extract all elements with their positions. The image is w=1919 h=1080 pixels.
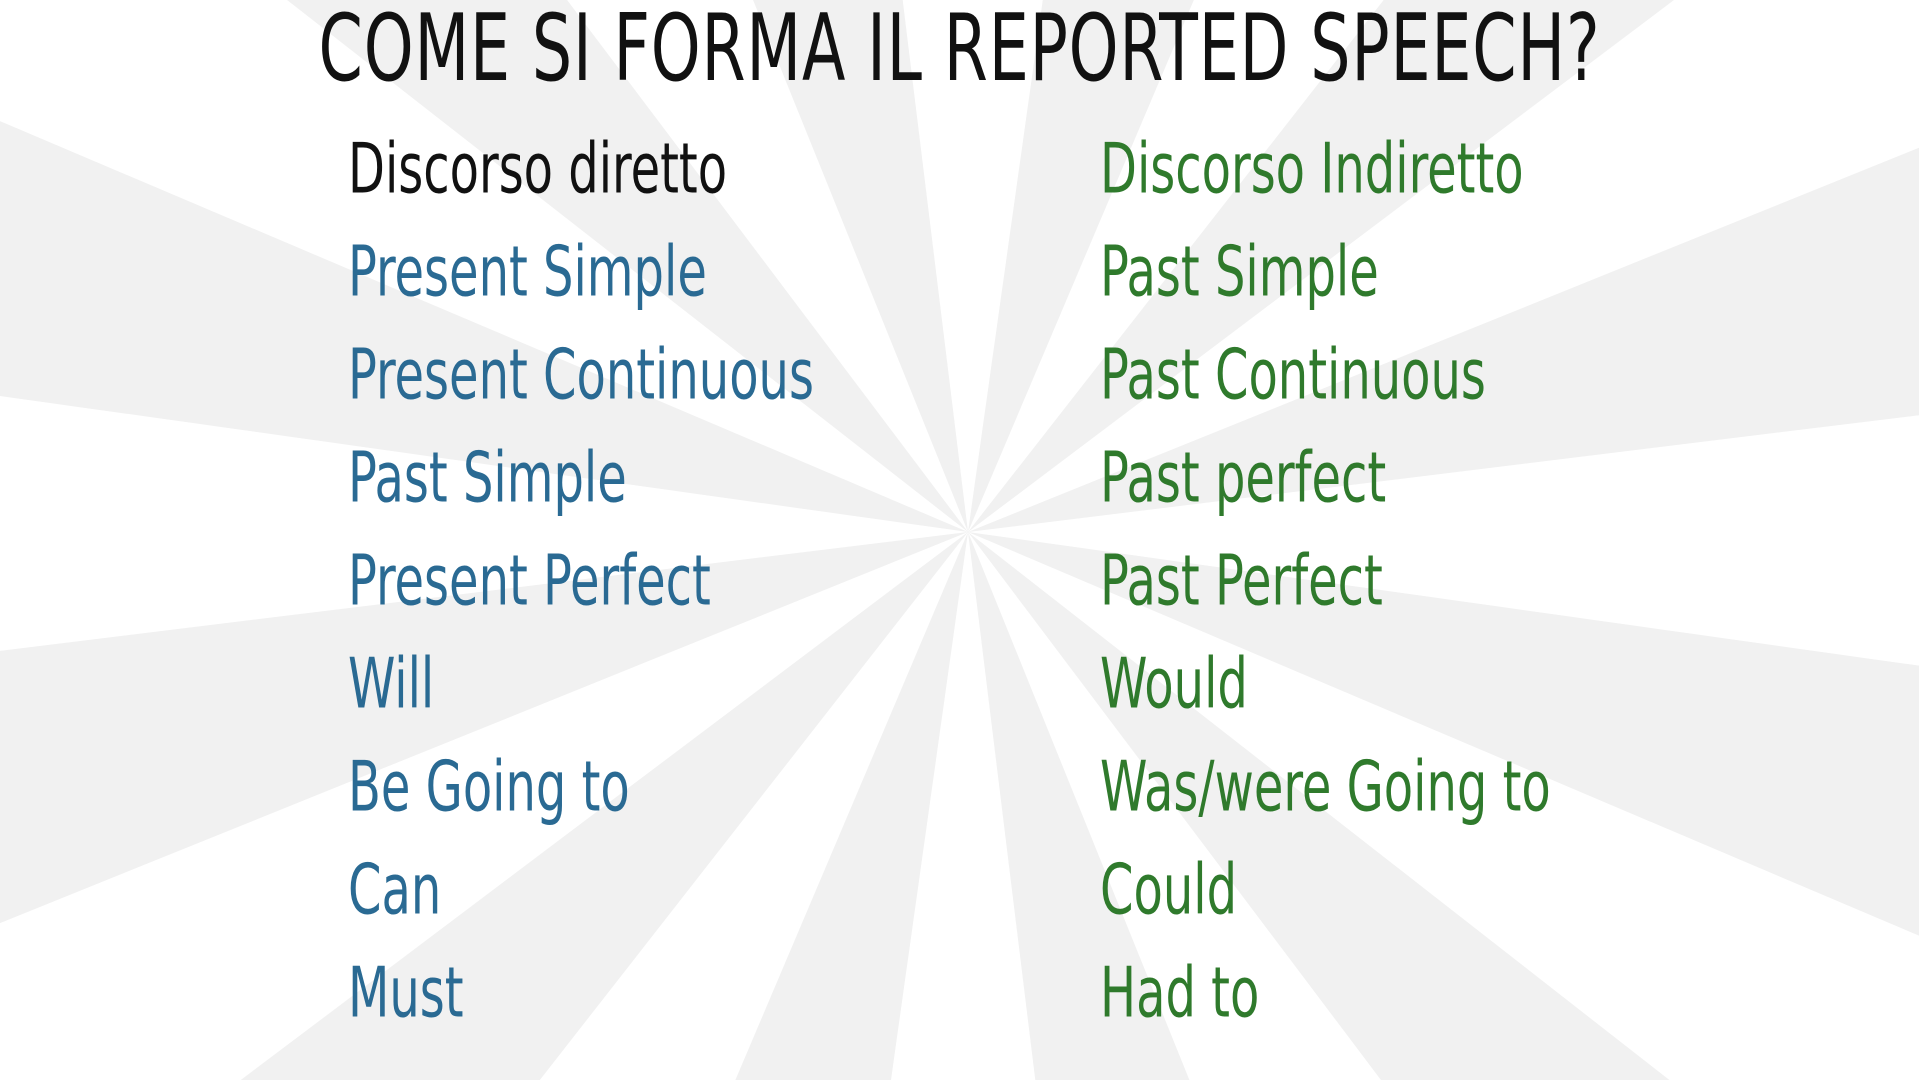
indirect-item-was-were-going-to: Was/were Going to (1100, 748, 1551, 826)
direct-item-can: Can (348, 851, 441, 929)
indirect-item-had-to: Had to (1100, 954, 1259, 1032)
direct-item-present-continuous: Present Continuous (348, 336, 814, 414)
direct-item-must: Must (348, 954, 464, 1032)
list-item: Had to (1100, 954, 1624, 1057)
direct-item-will: Will (348, 645, 434, 723)
indirect-item-past-simple: Past Simple (1100, 233, 1379, 311)
direct-speech-column: Discorso diretto Present Simple Present … (348, 130, 890, 1057)
list-item: Would (1100, 645, 1624, 748)
list-item: Was/were Going to (1100, 748, 1624, 851)
list-item: Past Simple (1100, 233, 1624, 336)
list-item: Past Perfect (1100, 542, 1624, 645)
direct-item-present-simple: Present Simple (348, 233, 707, 311)
list-item: Will (348, 645, 890, 748)
indirect-item-would: Would (1100, 645, 1248, 723)
direct-speech-header: Discorso diretto (348, 130, 727, 208)
indirect-item-past-perfect: Past Perfect (1100, 542, 1383, 620)
indirect-item-past-continuous: Past Continuous (1100, 336, 1486, 414)
page-title: COME SI FORMA IL REPORTED SPEECH? (173, 0, 1747, 100)
indirect-item-past-perfect-lower: Past perfect (1100, 439, 1386, 517)
list-item: Be Going to (348, 748, 890, 851)
indirect-item-could: Could (1100, 851, 1237, 929)
indirect-speech-header: Discorso Indiretto (1100, 130, 1524, 208)
list-item: Can (348, 851, 890, 954)
direct-item-be-going-to: Be Going to (348, 748, 630, 826)
direct-item-present-perfect: Present Perfect (348, 542, 711, 620)
list-item: Present Simple (348, 233, 890, 336)
direct-item-past-simple: Past Simple (348, 439, 627, 517)
indirect-speech-column: Discorso Indiretto Past Simple Past Cont… (1100, 130, 1624, 1057)
list-item: Could (1100, 851, 1624, 954)
list-item: Present Continuous (348, 336, 890, 439)
list-item: Past Continuous (1100, 336, 1624, 439)
slide-canvas: COME SI FORMA IL REPORTED SPEECH? Discor… (0, 0, 1919, 1080)
list-item: Present Perfect (348, 542, 890, 645)
list-item: Must (348, 954, 890, 1057)
indirect-column-header-row: Discorso Indiretto (1100, 130, 1624, 233)
list-item: Past Simple (348, 439, 890, 542)
list-item: Past perfect (1100, 439, 1624, 542)
direct-column-header-row: Discorso diretto (348, 130, 890, 233)
